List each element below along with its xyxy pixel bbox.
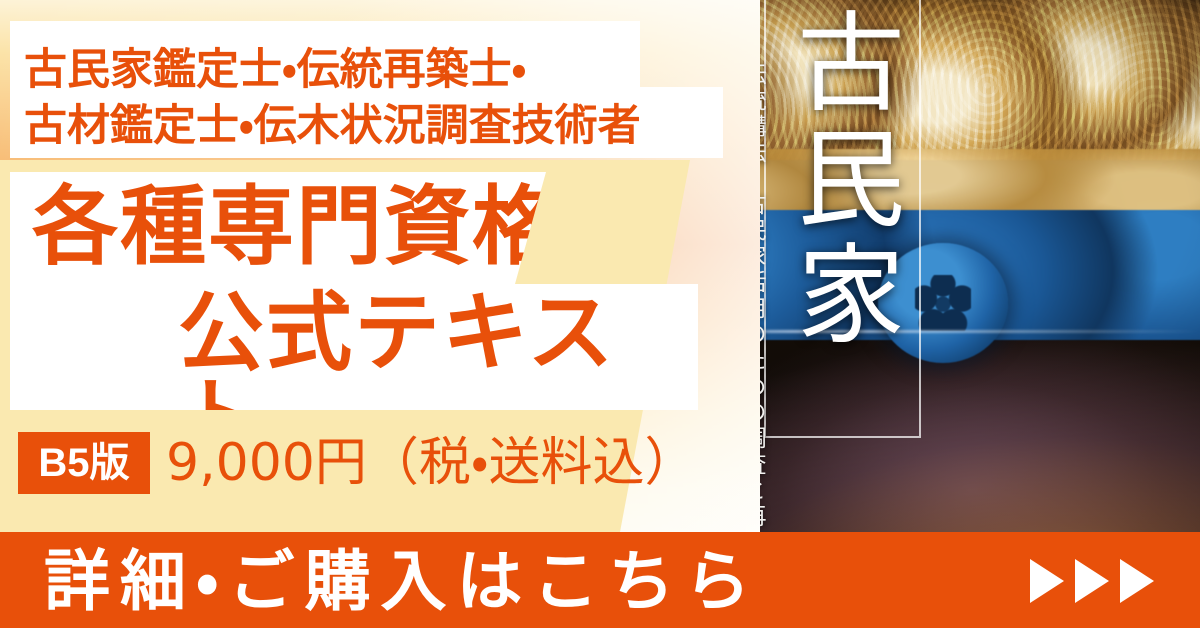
- format-badge: B5版: [18, 432, 150, 494]
- qualifications-text: 古民家鑑定士・伝統再築士・ 古材鑑定士・伝木状況調査技術者: [24, 43, 724, 155]
- price-text: 9,000円（税・送料込）: [166, 430, 697, 496]
- cta-bar[interactable]: 詳細・ご購入はこちら: [0, 532, 1200, 628]
- promotional-banner: 古民家 伝統構法 古民家活用のための調査と再生の 古民家鑑定士・伝統再築士・ 古…: [0, 0, 1200, 628]
- chevron-right-icon-1: [1030, 559, 1064, 603]
- headline-line-1: 各種専門資格: [32, 184, 560, 270]
- cta-arrow-group: [1030, 550, 1154, 612]
- book-title: 古民家: [776, 6, 904, 354]
- chevron-right-icon-3: [1120, 559, 1154, 603]
- qualifications-panel: 古民家鑑定士・伝統再築士・ 古材鑑定士・伝木状況調査技術者: [10, 21, 723, 158]
- chevron-right-icon-2: [1075, 559, 1109, 603]
- cta-label: 詳細・ご購入はこちら: [44, 542, 760, 620]
